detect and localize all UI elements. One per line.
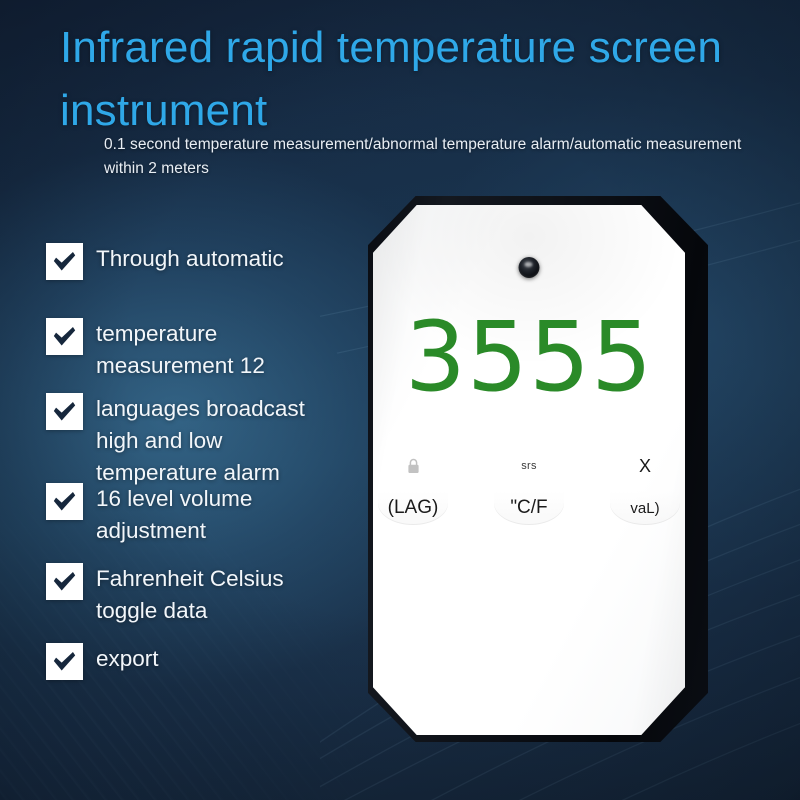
- check-icon: [46, 318, 83, 355]
- device-front-panel: 3555 (LAG) srs "C/F X: [373, 205, 685, 735]
- lag-button[interactable]: (LAG): [377, 453, 449, 525]
- val-button-label: vaL): [610, 491, 680, 525]
- list-item-label: export: [96, 643, 296, 675]
- list-item-label: temperature measurement 12: [96, 318, 351, 382]
- check-icon: [46, 243, 83, 280]
- lock-icon: [407, 453, 420, 479]
- srs-label-icon: srs: [521, 453, 537, 479]
- check-icon: [46, 643, 83, 680]
- cf-toggle-button-label: "C/F: [494, 491, 564, 525]
- check-icon: [46, 483, 83, 520]
- list-item-label: Fahrenheit Celsius toggle data: [96, 563, 351, 627]
- list-item: languages broadcast high and low tempera…: [46, 393, 346, 489]
- temperature-display: 3555: [373, 309, 685, 405]
- thermometer-device: 3555 (LAG) srs "C/F X: [368, 196, 708, 742]
- list-item-label: languages broadcast high and low tempera…: [96, 393, 346, 489]
- list-item: 16 level volume adjustment: [46, 483, 346, 547]
- list-item: Fahrenheit Celsius toggle data: [46, 563, 351, 627]
- list-item: temperature measurement 12: [46, 318, 351, 382]
- lag-button-label: (LAG): [378, 491, 448, 525]
- list-item: export: [46, 643, 296, 680]
- check-icon: [46, 393, 83, 430]
- advertisement-poster: Infrared rapid temperature screen instru…: [0, 0, 800, 800]
- list-item: Through automatic: [46, 243, 346, 280]
- list-item-label: 16 level volume adjustment: [96, 483, 346, 547]
- check-icon: [46, 563, 83, 600]
- infrared-sensor-icon: [519, 257, 540, 278]
- val-button[interactable]: X vaL): [609, 453, 681, 525]
- list-item-label: Through automatic: [96, 243, 346, 275]
- page-subtitle: 0.1 second temperature measurement/abnor…: [104, 133, 764, 182]
- cf-toggle-button[interactable]: srs "C/F: [493, 453, 565, 525]
- x-label-icon: X: [639, 453, 651, 479]
- button-row: (LAG) srs "C/F X vaL): [373, 453, 685, 525]
- page-title: Infrared rapid temperature screen instru…: [60, 16, 760, 143]
